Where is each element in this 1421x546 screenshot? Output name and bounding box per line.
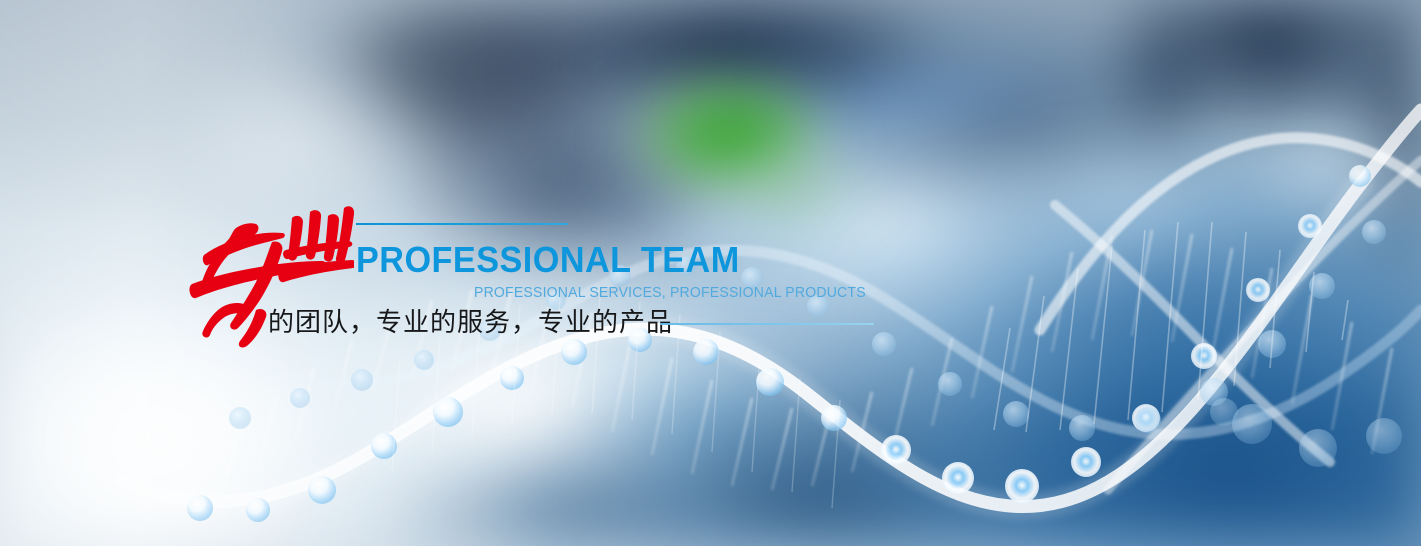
page-subtitle: PROFESSIONAL SERVICES, PROFESSIONAL PROD… (474, 286, 866, 301)
dna-node-group-lower-right (1210, 398, 1402, 467)
professional-team-banner: PROFESSIONAL TEAM PROFESSIONAL SERVICES,… (0, 0, 1421, 546)
banner-text-block: PROFESSIONAL TEAM PROFESSIONAL SERVICES,… (0, 0, 1421, 546)
dna-hairlines (994, 222, 1348, 432)
decorative-rule-bottom (660, 323, 874, 325)
dna-node-group-back (229, 220, 1386, 441)
decorative-rule-top (356, 223, 568, 225)
dna-node-group-front (187, 165, 1371, 522)
dna-strand-cross (1055, 205, 1330, 462)
page-title: PROFESSIONAL TEAM (356, 242, 740, 278)
chinese-calligraphy-zhuanye (186, 198, 354, 350)
